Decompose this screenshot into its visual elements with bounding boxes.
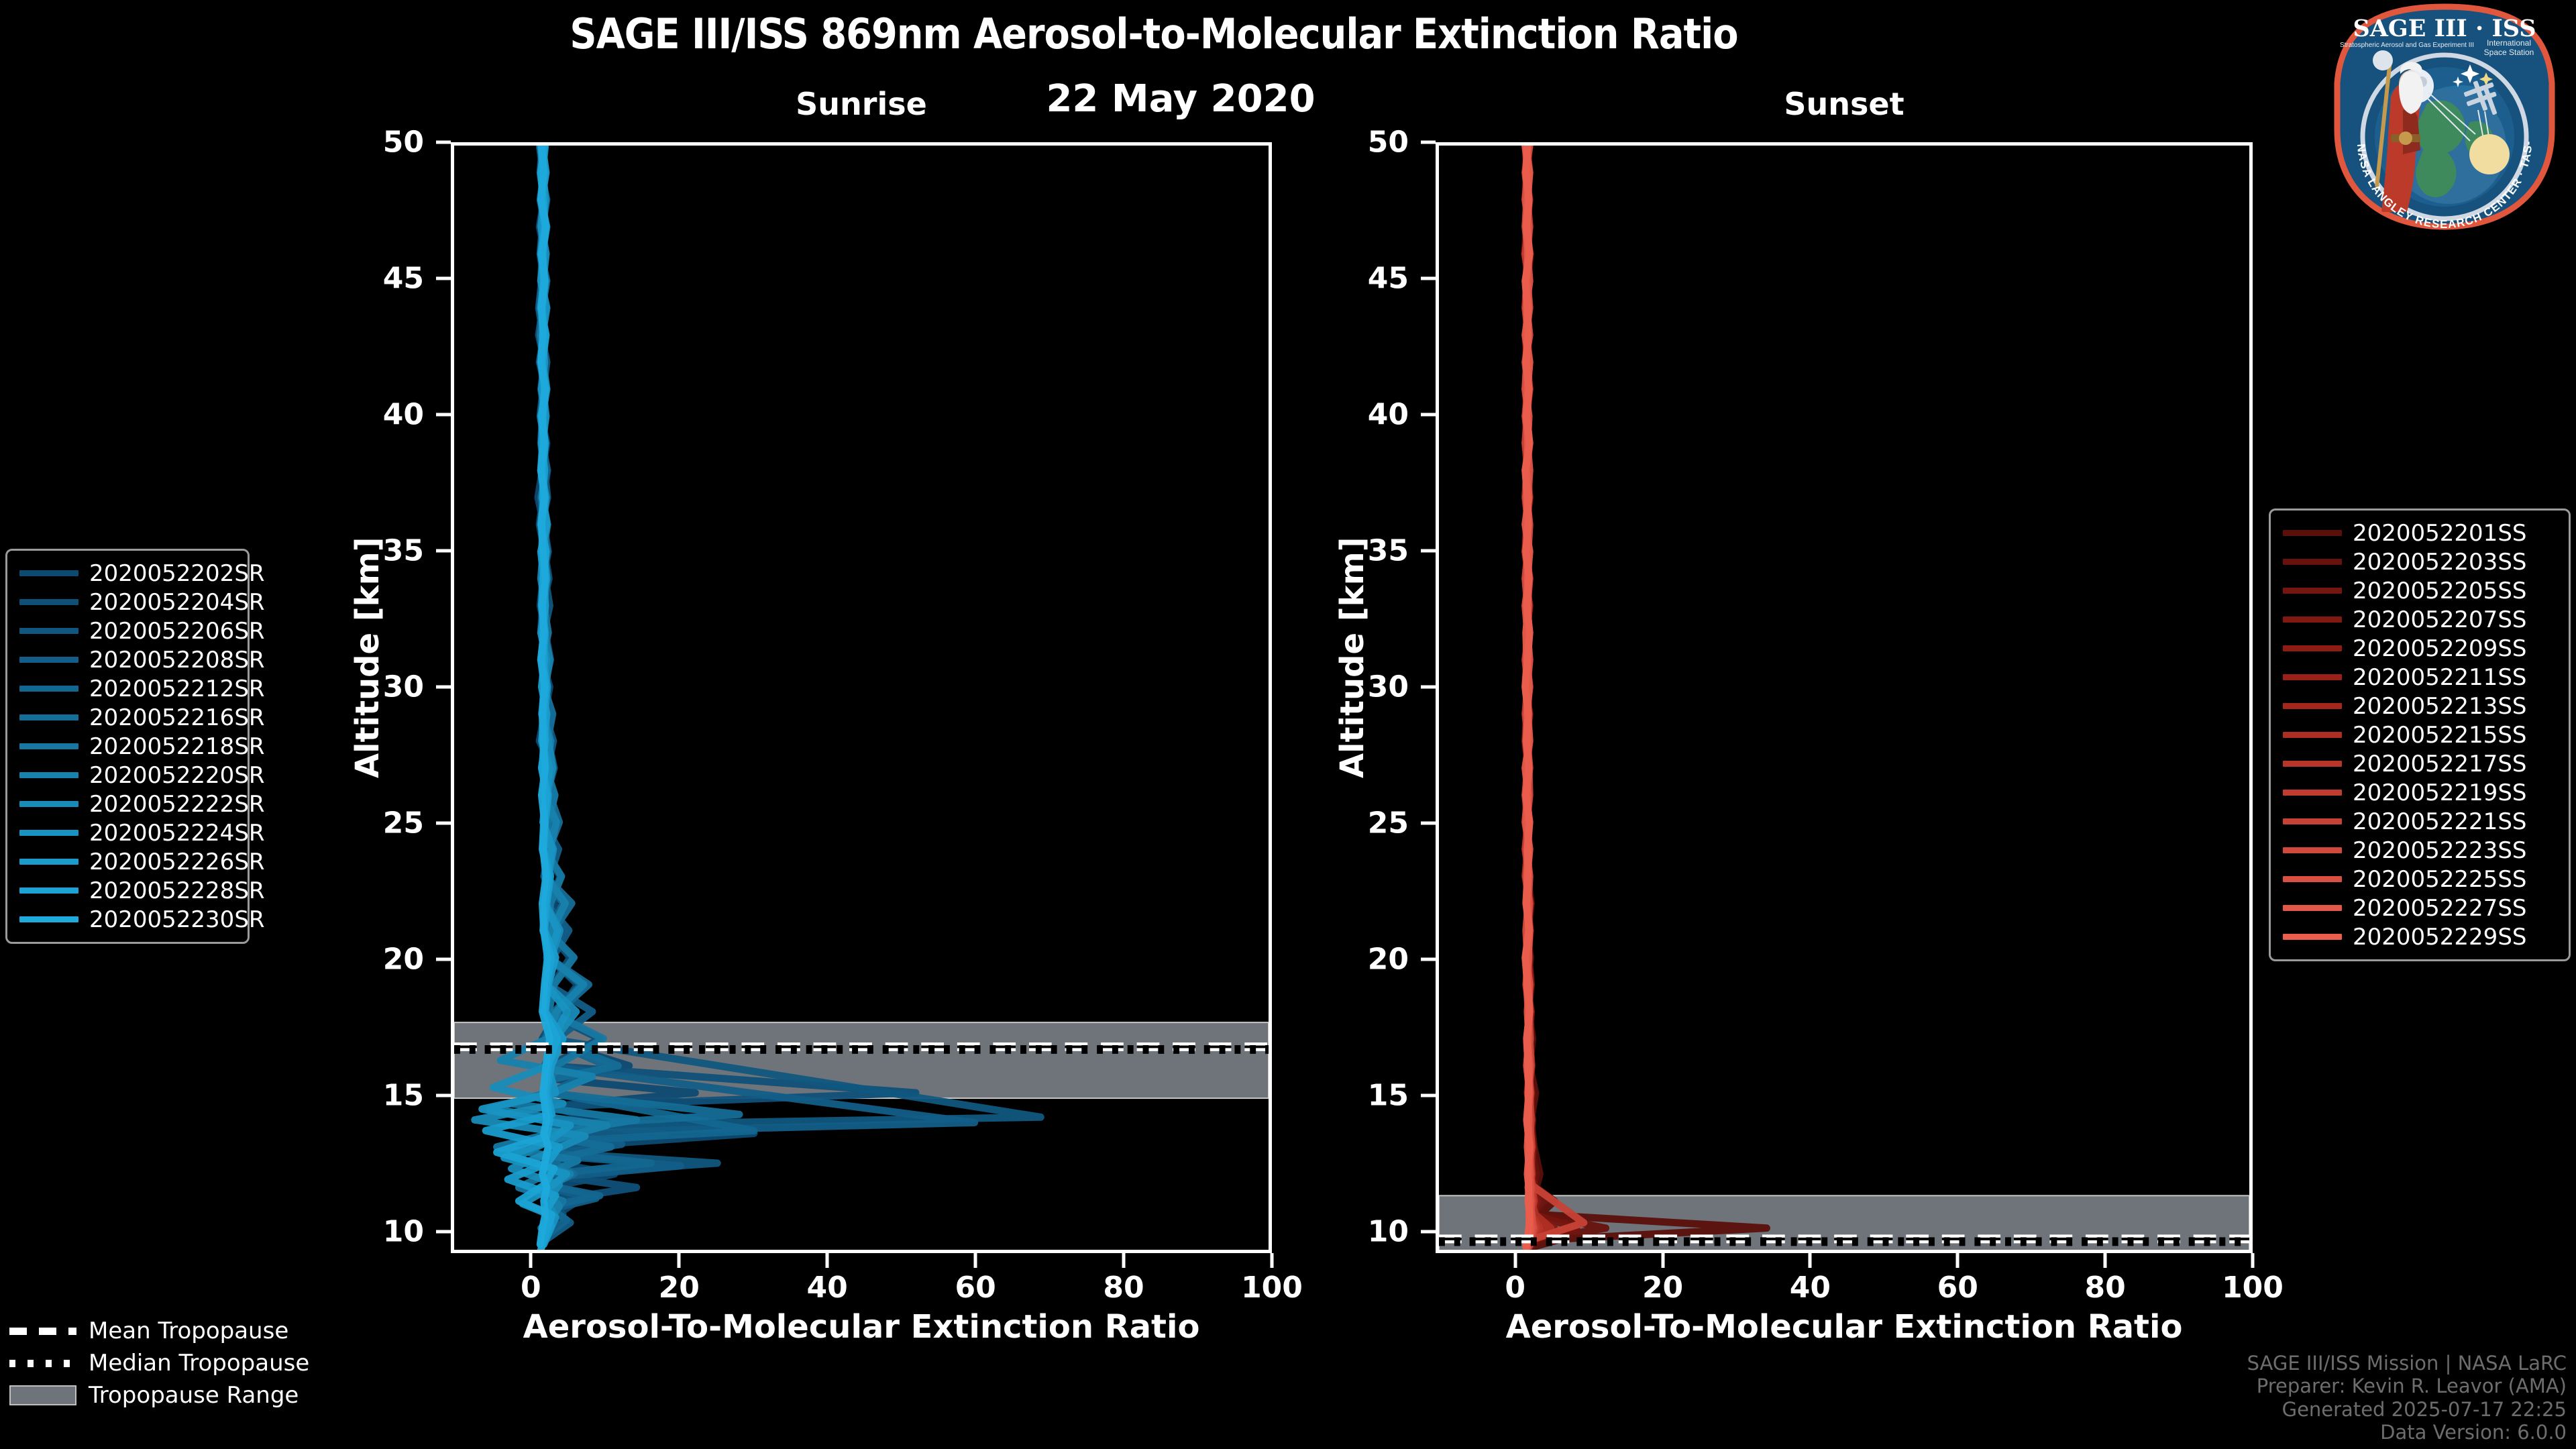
dashed-line-icon xyxy=(9,1324,76,1338)
x-axis-tick-label: 20 xyxy=(625,1271,733,1305)
sunset-legend-item[interactable]: 2020052211SS xyxy=(2283,663,2557,692)
legend-entry-label: 2020052206SR xyxy=(89,618,265,645)
x-axis-tick-mark xyxy=(1513,1253,1517,1268)
x-axis-tick-mark xyxy=(826,1253,829,1268)
sunset-legend-item[interactable]: 2020052209SS xyxy=(2283,634,2557,663)
x-axis-tick-mark xyxy=(2251,1253,2255,1268)
legend-color-swatch xyxy=(2283,876,2342,882)
sage-iii-iss-mission-patch-logo: SAGE III · ISS Stratospheric Aerosol and… xyxy=(2326,3,2563,231)
y-axis-tick-mark xyxy=(436,821,451,824)
legend-entry-label: 2020052230SR xyxy=(89,906,265,933)
legend-entry-label: 2020052213SS xyxy=(2353,693,2526,720)
y-axis-tick-mark xyxy=(1421,141,1436,144)
tropopause-legend: Mean Tropopause Median Tropopause Tropop… xyxy=(9,1315,291,1411)
x-axis-tick-mark xyxy=(1661,1253,1664,1268)
legend-color-swatch xyxy=(19,714,78,720)
credit-data-version: Data Version: 6.0.0 xyxy=(2247,1421,2567,1444)
legend-color-swatch xyxy=(19,743,78,749)
sunrise-legend-item[interactable]: 2020052216SR xyxy=(19,703,235,732)
legend-item-mean-tropopause: Mean Tropopause xyxy=(9,1315,291,1347)
legend-entry-label: 2020052207SS xyxy=(2353,606,2526,633)
y-axis-tick-mark xyxy=(436,1230,451,1233)
y-axis-tick-label: 15 xyxy=(343,1078,424,1112)
profile-line xyxy=(1525,146,1767,1247)
legend-color-swatch xyxy=(19,772,78,778)
sunset-legend-item[interactable]: 2020052221SS xyxy=(2283,807,2557,836)
profile-line xyxy=(1525,146,1530,1247)
sunrise-panel-title: Sunrise xyxy=(451,86,1272,122)
legend-color-swatch xyxy=(19,657,78,663)
y-axis-tick-label: 50 xyxy=(1328,125,1409,160)
legend-color-swatch xyxy=(2283,905,2342,911)
legend-entry-label: 2020052212SR xyxy=(89,676,265,702)
y-axis-tick-mark xyxy=(1421,413,1436,416)
legend-entry-label: 2020052222SR xyxy=(89,791,265,818)
sunset-legend-item[interactable]: 2020052215SS xyxy=(2283,720,2557,749)
sunset-legend-item[interactable]: 2020052205SS xyxy=(2283,576,2557,605)
sunrise-x-axis-title: Aerosol-To-Molecular Extinction Ratio xyxy=(451,1308,1272,1346)
legend-entry-label: 2020052201SS xyxy=(2353,520,2526,547)
x-axis-tick-label: 60 xyxy=(922,1271,1029,1305)
sunset-legend-item[interactable]: 2020052229SS xyxy=(2283,922,2557,951)
legend-entry-label: 2020052227SS xyxy=(2353,895,2526,922)
x-axis-tick-label: 80 xyxy=(1070,1271,1177,1305)
y-axis-tick-label: 20 xyxy=(1328,942,1409,976)
legend-color-swatch xyxy=(2283,588,2342,594)
sunset-plot-canvas xyxy=(1439,146,2249,1250)
sunrise-legend-item[interactable]: 2020052222SR xyxy=(19,790,235,818)
sunset-x-axis-title: Aerosol-To-Molecular Extinction Ratio xyxy=(1436,1308,2253,1346)
sunrise-legend-item[interactable]: 2020052218SR xyxy=(19,732,235,761)
y-axis-tick-mark xyxy=(436,957,451,961)
sunset-legend-item[interactable]: 2020052223SS xyxy=(2283,836,2557,865)
legend-color-swatch xyxy=(2283,530,2342,536)
y-axis-tick-label: 40 xyxy=(1328,397,1409,431)
legend-color-swatch xyxy=(2283,934,2342,940)
legend-entry-label: 2020052221SS xyxy=(2353,808,2526,835)
legend-color-swatch xyxy=(2283,616,2342,623)
sunset-legend-item[interactable]: 2020052219SS xyxy=(2283,778,2557,807)
y-axis-tick-mark xyxy=(1421,1230,1436,1233)
logo-subtitle-left: Stratospheric Aerosol and Gas Experiment… xyxy=(2340,42,2474,49)
x-axis-tick-label: 40 xyxy=(773,1271,881,1305)
sunset-legend-item[interactable]: 2020052203SS xyxy=(2283,547,2557,576)
shaded-band-icon xyxy=(9,1388,76,1403)
credit-mission: SAGE III/ISS Mission | NASA LaRC xyxy=(2247,1352,2567,1375)
sunset-legend-item[interactable]: 2020052217SS xyxy=(2283,749,2557,778)
y-axis-tick-label: 25 xyxy=(1328,806,1409,840)
y-axis-tick-label: 45 xyxy=(343,261,424,295)
legend-entry-label: 2020052205SS xyxy=(2353,578,2526,604)
median-tropopause-label: Median Tropopause xyxy=(89,1350,309,1377)
legend-color-swatch xyxy=(19,686,78,692)
legend-item-median-tropopause: Median Tropopause xyxy=(9,1347,291,1379)
x-axis-tick-label: 20 xyxy=(1609,1271,1717,1305)
legend-entry-label: 2020052209SS xyxy=(2353,635,2526,662)
legend-color-swatch xyxy=(19,830,78,836)
legend-color-swatch xyxy=(19,570,78,576)
legend-color-swatch xyxy=(2283,674,2342,680)
sunrise-legend-item[interactable]: 2020052220SR xyxy=(19,761,235,790)
sunrise-legend-item[interactable]: 2020052224SR xyxy=(19,818,235,847)
x-axis-tick-mark xyxy=(529,1253,533,1268)
x-axis-tick-mark xyxy=(1122,1253,1126,1268)
legend-entry-label: 2020052226SR xyxy=(89,849,265,875)
legend-color-swatch xyxy=(2283,818,2342,824)
legend-entry-label: 2020052223SS xyxy=(2353,837,2526,864)
legend-color-swatch xyxy=(2283,790,2342,796)
sunrise-legend-item[interactable]: 2020052204SR xyxy=(19,588,235,616)
legend-color-swatch xyxy=(19,628,78,634)
y-axis-tick-label: 10 xyxy=(343,1214,424,1248)
tropopause-range-label: Tropopause Range xyxy=(89,1382,299,1409)
legend-entry-label: 2020052202SR xyxy=(89,560,265,587)
y-axis-tick-mark xyxy=(436,1093,451,1097)
x-axis-tick-label: 0 xyxy=(477,1271,584,1305)
y-axis-tick-label: 20 xyxy=(343,942,424,976)
y-axis-tick-label: 10 xyxy=(1328,1214,1409,1248)
sunrise-legend: 2020052202SR2020052204SR2020052206SR2020… xyxy=(5,549,250,944)
sunset-legend-item[interactable]: 2020052213SS xyxy=(2283,692,2557,720)
sunrise-legend-item[interactable]: 2020052202SR xyxy=(19,559,235,588)
legend-color-swatch xyxy=(2283,732,2342,738)
x-axis-tick-label: 40 xyxy=(1756,1271,1864,1305)
y-axis-tick-mark xyxy=(436,549,451,552)
legend-entry-label: 2020052208SR xyxy=(89,647,265,674)
y-axis-tick-label: 50 xyxy=(343,125,424,160)
sunset-legend-item[interactable]: 2020052207SS xyxy=(2283,605,2557,634)
x-axis-tick-mark xyxy=(1956,1253,1960,1268)
legend-color-swatch xyxy=(2283,761,2342,767)
y-axis-tick-mark xyxy=(1421,685,1436,688)
sunset-panel-title: Sunset xyxy=(1436,86,2253,122)
legend-entry-label: 2020052220SR xyxy=(89,762,265,789)
sunrise-legend-item[interactable]: 2020052208SR xyxy=(19,645,235,674)
y-axis-tick-label: 15 xyxy=(1328,1078,1409,1112)
page-title: SAGE III/ISS 869nm Aerosol-to-Molecular … xyxy=(0,9,2308,58)
dotted-line-icon xyxy=(9,1356,76,1371)
credit-generated: Generated 2025-07-17 22:25 xyxy=(2247,1398,2567,1421)
profile-line xyxy=(1525,146,1606,1247)
logo-subtitle-right-1: International xyxy=(2487,38,2531,48)
x-axis-tick-label: 100 xyxy=(1218,1271,1326,1305)
sunrise-plot-area xyxy=(451,142,1272,1253)
legend-item-tropopause-range: Tropopause Range xyxy=(9,1379,291,1411)
legend-entry-label: 2020052219SS xyxy=(2353,780,2526,806)
x-axis-tick-label: 60 xyxy=(1904,1271,2011,1305)
x-axis-tick-label: 80 xyxy=(2051,1271,2159,1305)
sunrise-legend-item[interactable]: 2020052228SR xyxy=(19,876,235,905)
legend-entry-label: 2020052215SS xyxy=(2353,722,2526,749)
y-axis-tick-mark xyxy=(1421,276,1436,280)
legend-entry-label: 2020052224SR xyxy=(89,820,265,847)
legend-entry-label: 2020052217SS xyxy=(2353,751,2526,777)
sunset-y-axis-title: Altitude [km] xyxy=(1334,537,1371,778)
legend-color-swatch xyxy=(2283,559,2342,565)
y-axis-tick-mark xyxy=(1421,549,1436,552)
logo-subtitle-right-2: Space Station xyxy=(2484,48,2534,57)
legend-entry-label: 2020052218SR xyxy=(89,733,265,760)
x-axis-tick-label: 0 xyxy=(1462,1271,1569,1305)
sunset-legend-item[interactable]: 2020052201SS xyxy=(2283,519,2557,547)
y-axis-tick-mark xyxy=(436,276,451,280)
sunrise-y-axis-title: Altitude [km] xyxy=(349,537,386,778)
y-axis-tick-label: 40 xyxy=(343,397,424,431)
sunset-plot-area xyxy=(1436,142,2253,1253)
x-axis-tick-mark xyxy=(974,1253,977,1268)
legend-entry-label: 2020052228SR xyxy=(89,877,265,904)
sunset-legend-item[interactable]: 2020052225SS xyxy=(2283,865,2557,894)
y-axis-tick-mark xyxy=(436,141,451,144)
credit-preparer: Preparer: Kevin R. Leavor (AMA) xyxy=(2247,1375,2567,1397)
legend-color-swatch xyxy=(19,916,78,922)
legend-color-swatch xyxy=(19,859,78,865)
x-axis-tick-label: 100 xyxy=(2199,1271,2306,1305)
legend-color-swatch xyxy=(19,801,78,807)
x-axis-tick-mark xyxy=(1271,1253,1274,1268)
sunrise-legend-item[interactable]: 2020052212SR xyxy=(19,674,235,703)
y-axis-tick-label: 25 xyxy=(343,806,424,840)
sunrise-legend-item[interactable]: 2020052206SR xyxy=(19,616,235,645)
sunrise-legend-item[interactable]: 2020052226SR xyxy=(19,847,235,876)
y-axis-tick-mark xyxy=(436,413,451,416)
y-axis-tick-mark xyxy=(1421,957,1436,961)
legend-color-swatch xyxy=(19,888,78,894)
legend-entry-label: 2020052229SS xyxy=(2353,924,2526,951)
legend-color-swatch xyxy=(2283,703,2342,709)
sunset-legend: 2020052201SS2020052203SS2020052205SS2020… xyxy=(2269,508,2571,961)
legend-color-swatch xyxy=(2283,847,2342,853)
legend-entry-label: 2020052211SS xyxy=(2353,664,2526,691)
y-axis-tick-label: 45 xyxy=(1328,261,1409,295)
legend-entry-label: 2020052203SS xyxy=(2353,549,2526,576)
legend-entry-label: 2020052216SR xyxy=(89,704,265,731)
x-axis-tick-mark xyxy=(678,1253,681,1268)
mean-tropopause-label: Mean Tropopause xyxy=(89,1318,288,1344)
legend-color-swatch xyxy=(19,599,78,605)
sunset-legend-item[interactable]: 2020052227SS xyxy=(2283,894,2557,922)
y-axis-tick-mark xyxy=(1421,1093,1436,1097)
legend-entry-label: 2020052204SR xyxy=(89,589,265,616)
legend-entry-label: 2020052225SS xyxy=(2353,866,2526,893)
x-axis-tick-mark xyxy=(1809,1253,1812,1268)
y-axis-tick-mark xyxy=(1421,821,1436,824)
y-axis-tick-mark xyxy=(436,685,451,688)
sunrise-legend-item[interactable]: 2020052230SR xyxy=(19,905,235,934)
legend-color-swatch xyxy=(2283,645,2342,651)
sunrise-plot-canvas xyxy=(454,146,1269,1250)
x-axis-tick-mark xyxy=(2104,1253,2107,1268)
credits-block: SAGE III/ISS Mission | NASA LaRC Prepare… xyxy=(2247,1352,2567,1444)
